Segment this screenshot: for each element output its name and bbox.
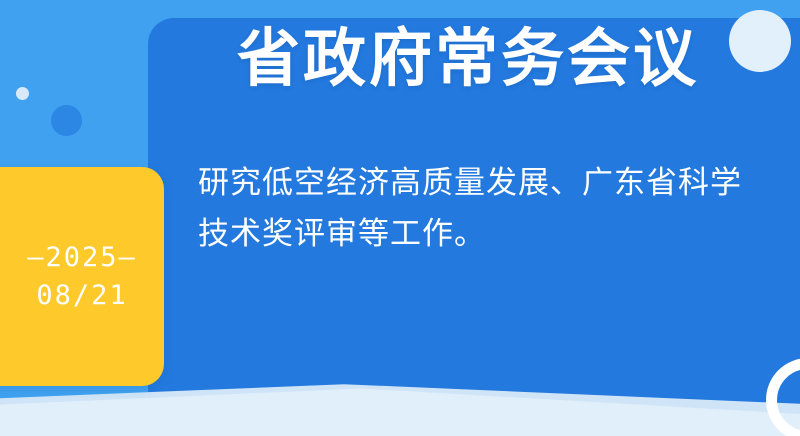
large-blue-dot-decoration — [51, 105, 82, 136]
poster-banner: 省政府常务会议 研究低空经济高质量发展、广东省科学技术奖评审等工作。 —2025… — [0, 0, 800, 436]
date-day-line: 08/21 — [36, 280, 127, 311]
page-title: 省政府常务会议 — [168, 24, 768, 95]
date-year-line: —2025— — [27, 242, 137, 273]
small-pale-dot-decoration — [16, 87, 29, 100]
date-card: —2025— 08/21 — [0, 167, 164, 386]
page-subtitle: 研究低空经济高质量发展、广东省科学技术奖评审等工作。 — [198, 157, 773, 259]
date-card-text: —2025— 08/21 — [0, 167, 164, 386]
